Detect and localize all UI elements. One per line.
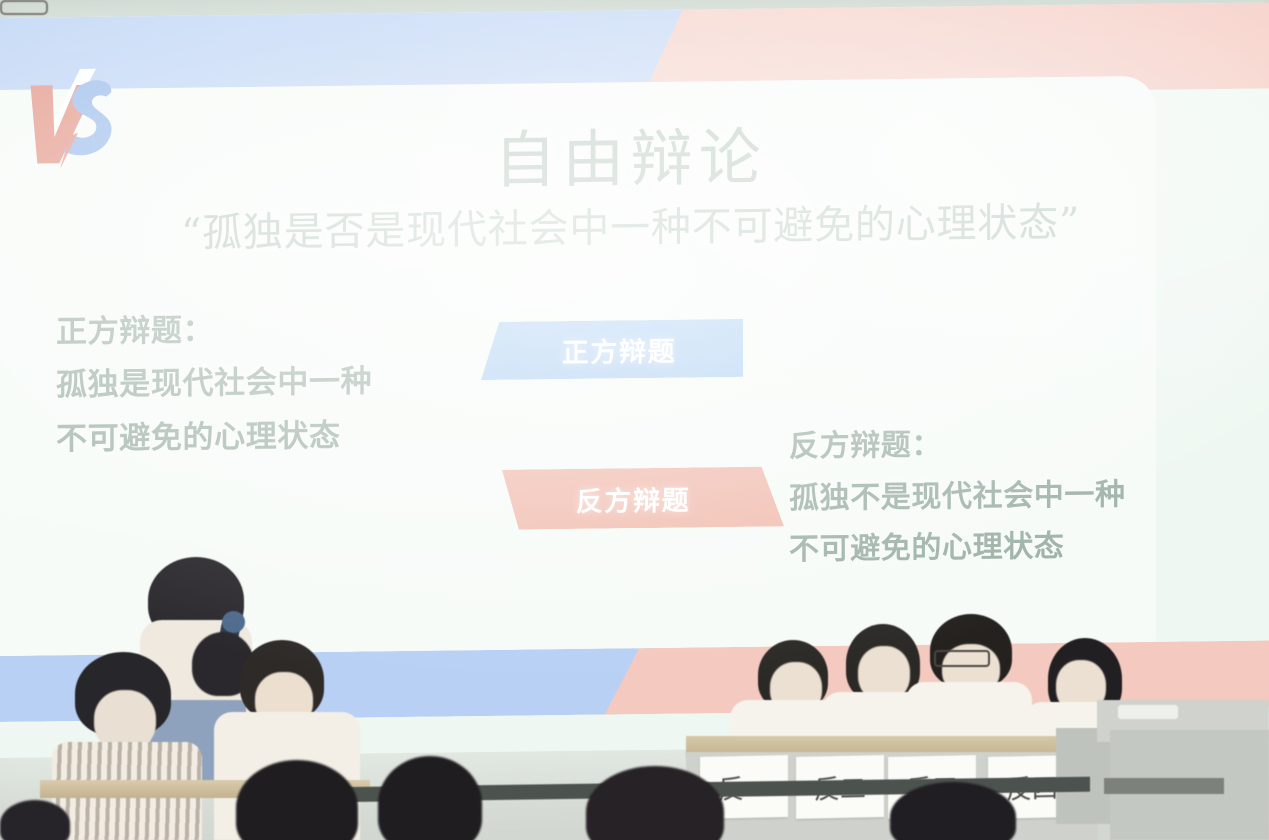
proposition-line-2: 不可避免的心理状态 [56,407,486,466]
proposition-ribbon: 正方辩题 [481,319,743,380]
proposition-line-1: 孤独是现代社会中一种 [56,353,486,412]
opposition-line-2: 不可避免的心理状态 [789,519,1209,576]
projection-screen: 自由辩论 “孤独是否是现代社会中一种不可避免的心理状态” 正方辩题： 孤独是现代… [0,2,1269,758]
opposition-heading: 反方辩题： [789,416,1209,473]
bottom-band-blue [0,648,661,722]
opposition-line-1: 孤独不是现代社会中一种 [789,468,1209,525]
bottom-band-salmon [584,640,1269,714]
proposition-heading: 正方辩题： [56,300,486,359]
classroom-debate-photo: 自由辩论 “孤独是否是现代社会中一种不可避免的心理状态” 正方辩题： 孤独是现代… [0,0,1269,840]
opposition-text-block: 反方辩题： 孤独不是现代社会中一种 不可避免的心理状态 [789,416,1209,576]
proposition-text-block: 正方辩题： 孤独是现代社会中一种 不可避免的心理状态 [56,300,486,465]
opposition-ribbon: 反方辩题 [502,466,784,529]
slide-bottom-band [0,640,1269,722]
